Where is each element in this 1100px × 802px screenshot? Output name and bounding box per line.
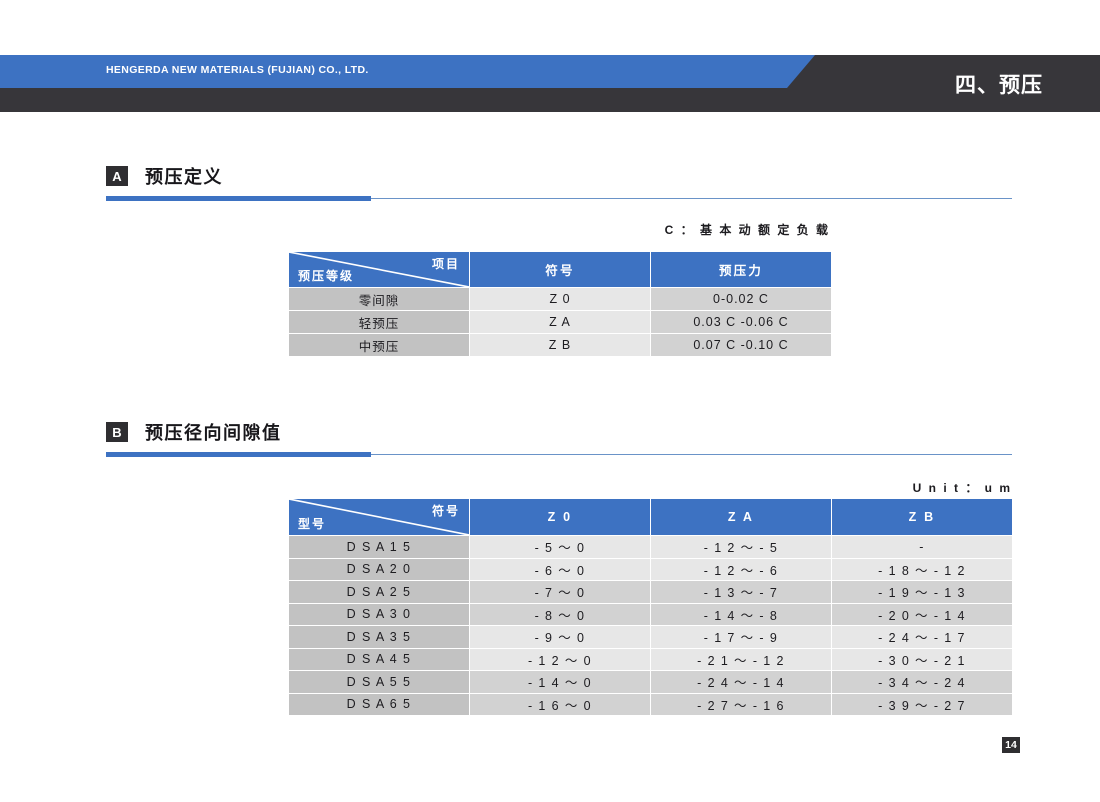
table-row: D S A 1 5 - 5 ～ 0 - 1 2 ～ - 5 - <box>289 536 1012 558</box>
corner-label-item: 项目 <box>432 255 460 272</box>
cell-force: 0.03 C -0.06 C <box>651 311 831 333</box>
table-header-row: 项目 预压等级 符号 预压力 <box>289 252 831 287</box>
cell-level: 零间隙 <box>289 288 469 310</box>
cell-model: D S A 3 5 <box>289 626 469 648</box>
table-preload-definition: 项目 预压等级 符号 预压力 零间隙 Z 0 0-0.02 C 轻预压 Z A … <box>288 251 832 357</box>
cell-force: 0-0.02 C <box>651 288 831 310</box>
section-a-badge: A <box>106 166 128 186</box>
column-header-zb: Z B <box>832 499 1012 535</box>
table-row: D S A 2 5 - 7 ～ 0 - 1 3 ～ - 7 - 1 9 ～ - … <box>289 581 1012 603</box>
cell-z0: - 7 ～ 0 <box>470 581 650 603</box>
cell-model: D S A 1 5 <box>289 536 469 558</box>
company-name: HENGERDA NEW MATERIALS (FUJIAN) CO., LTD… <box>106 64 369 76</box>
table-row: D S A 2 0 - 6 ～ 0 - 1 2 ～ - 6 - 1 8 ～ - … <box>289 559 1012 581</box>
cell-force: 0.07 C -0.10 C <box>651 334 831 356</box>
cell-zb: - 2 4 ～ - 1 7 <box>832 626 1012 648</box>
cell-za: - 1 4 ～ - 8 <box>651 604 831 626</box>
section-a-rule <box>106 196 1012 201</box>
table-row: D S A 3 0 - 8 ～ 0 - 1 4 ～ - 8 - 2 0 ～ - … <box>289 604 1012 626</box>
table-header-row: 符号 型号 Z 0 Z A Z B <box>289 499 1012 535</box>
corner-header-cell: 项目 预压等级 <box>289 252 469 287</box>
column-header-force: 预压力 <box>651 252 831 287</box>
cell-z0: - 1 2 ～ 0 <box>470 649 650 671</box>
table-row: D S A 5 5 - 1 4 ～ 0 - 2 4 ～ - 1 4 - 3 4 … <box>289 671 1012 693</box>
cell-za: - 1 7 ～ - 9 <box>651 626 831 648</box>
cell-model: D S A 6 5 <box>289 694 469 716</box>
cell-level: 中预压 <box>289 334 469 356</box>
cell-zb: - <box>832 536 1012 558</box>
caption-basic-dynamic-load: C ： 基 本 动 额 定 负 载 <box>665 221 830 238</box>
cell-za: - 1 2 ～ - 5 <box>651 536 831 558</box>
column-header-za: Z A <box>651 499 831 535</box>
cell-model: D S A 2 5 <box>289 581 469 603</box>
page-number-badge: 14 <box>1002 737 1020 753</box>
column-header-symbol: 符号 <box>470 252 650 287</box>
table-radial-clearance: 符号 型号 Z 0 Z A Z B D S A 1 5 - 5 ～ 0 - 1 … <box>288 498 1013 716</box>
cell-zb: - 3 4 ～ - 2 4 <box>832 671 1012 693</box>
cell-z0: - 9 ～ 0 <box>470 626 650 648</box>
section-b-title: 预压径向间隙值 <box>145 419 282 445</box>
cell-z0: - 8 ～ 0 <box>470 604 650 626</box>
section-a-rule-thick <box>106 196 371 201</box>
corner-label-symbol: 符号 <box>432 502 460 519</box>
section-b-rule-thick <box>106 452 371 457</box>
cell-zb: - 2 0 ～ - 1 4 <box>832 604 1012 626</box>
chapter-title: 四、预压 <box>955 69 1043 99</box>
table-row: 轻预压 Z A 0.03 C -0.06 C <box>289 311 831 333</box>
cell-z0: - 1 6 ～ 0 <box>470 694 650 716</box>
cell-symbol: Z A <box>470 311 650 333</box>
column-header-z0: Z 0 <box>470 499 650 535</box>
cell-za: - 1 3 ～ - 7 <box>651 581 831 603</box>
cell-z0: - 1 4 ～ 0 <box>470 671 650 693</box>
table-row: 中预压 Z B 0.07 C -0.10 C <box>289 334 831 356</box>
section-a-title: 预压定义 <box>145 163 223 189</box>
cell-model: D S A 4 5 <box>289 649 469 671</box>
corner-label-level: 预压等级 <box>298 267 354 284</box>
table-row: D S A 3 5 - 9 ～ 0 - 1 7 ～ - 9 - 2 4 ～ - … <box>289 626 1012 648</box>
cell-symbol: Z 0 <box>470 288 650 310</box>
section-a: A 预压定义 <box>106 165 1012 201</box>
corner-header-cell: 符号 型号 <box>289 499 469 535</box>
section-b-heading: B 预压径向间隙值 <box>106 421 1012 443</box>
page-header: HENGERDA NEW MATERIALS (FUJIAN) CO., LTD… <box>0 55 1100 112</box>
section-b-rule <box>106 452 1012 457</box>
cell-zb: - 1 9 ～ - 1 3 <box>832 581 1012 603</box>
cell-zb: - 3 9 ～ - 2 7 <box>832 694 1012 716</box>
cell-model: D S A 2 0 <box>289 559 469 581</box>
table-row: D S A 6 5 - 1 6 ～ 0 - 2 7 ～ - 1 6 - 3 9 … <box>289 694 1012 716</box>
cell-za: - 2 7 ～ - 1 6 <box>651 694 831 716</box>
caption-unit: U n i t ： u m <box>913 479 1012 496</box>
section-b: B 预压径向间隙值 <box>106 421 1012 457</box>
corner-label-model: 型号 <box>298 515 326 532</box>
cell-za: - 2 1 ～ - 1 2 <box>651 649 831 671</box>
cell-model: D S A 3 0 <box>289 604 469 626</box>
table-row: D S A 4 5 - 1 2 ～ 0 - 2 1 ～ - 1 2 - 3 0 … <box>289 649 1012 671</box>
cell-level: 轻预压 <box>289 311 469 333</box>
cell-zb: - 3 0 ～ - 2 1 <box>832 649 1012 671</box>
cell-za: - 1 2 ～ - 6 <box>651 559 831 581</box>
cell-za: - 2 4 ～ - 1 4 <box>651 671 831 693</box>
table-row: 零间隙 Z 0 0-0.02 C <box>289 288 831 310</box>
section-b-badge: B <box>106 422 128 442</box>
cell-z0: - 6 ～ 0 <box>470 559 650 581</box>
cell-z0: - 5 ～ 0 <box>470 536 650 558</box>
document-page: HENGERDA NEW MATERIALS (FUJIAN) CO., LTD… <box>0 0 1100 802</box>
cell-zb: - 1 8 ～ - 1 2 <box>832 559 1012 581</box>
cell-symbol: Z B <box>470 334 650 356</box>
section-a-heading: A 预压定义 <box>106 165 1012 187</box>
cell-model: D S A 5 5 <box>289 671 469 693</box>
